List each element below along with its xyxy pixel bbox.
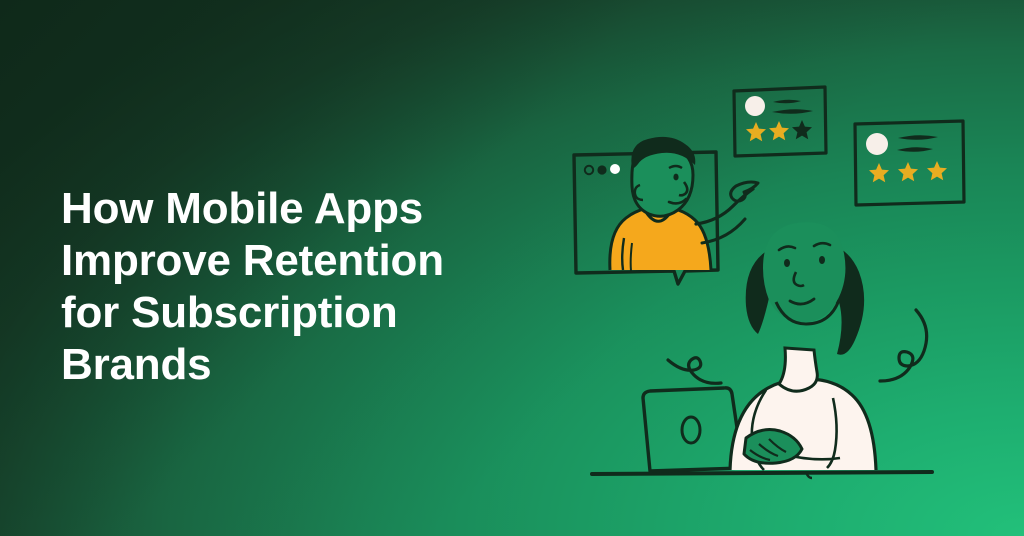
star-rating <box>869 161 947 182</box>
text-line <box>773 100 801 104</box>
swirl-right-icon <box>880 310 927 381</box>
card-frame <box>855 121 964 205</box>
page-title: How Mobile Apps Improve Retention for Su… <box>61 183 561 391</box>
window-dot-white-icon <box>610 164 620 174</box>
text-line <box>772 109 813 114</box>
banner-graphic: How Mobile Apps Improve Retention for Su… <box>0 0 1024 536</box>
star-filled <box>746 122 766 141</box>
laptop-icon <box>643 388 743 471</box>
text-line <box>897 147 933 152</box>
hero-illustration <box>550 58 1024 536</box>
star-filled <box>927 161 947 180</box>
window-dot-dark-icon <box>597 165 606 174</box>
star-filled <box>869 163 889 182</box>
laptop-logo-icon <box>682 417 700 443</box>
window-dot-outline-icon <box>585 166 593 174</box>
swirl-left-icon <box>668 358 721 384</box>
star-dark <box>792 120 812 139</box>
woman-eye <box>784 259 790 267</box>
desk-surface <box>592 472 932 474</box>
woman-neck <box>779 348 817 391</box>
woman-face <box>763 222 845 322</box>
review-card-top <box>734 87 826 156</box>
card-frame <box>734 87 826 156</box>
video-call-window <box>574 137 758 284</box>
avatar <box>745 96 765 116</box>
woman-eye <box>819 256 825 264</box>
star-filled <box>898 162 918 181</box>
star-rating <box>746 120 812 141</box>
avatar <box>866 133 888 155</box>
star-filled <box>769 121 789 140</box>
text-line <box>898 135 938 140</box>
man-eye <box>673 174 678 181</box>
review-card-right <box>855 121 964 205</box>
man-pointing-hand <box>731 182 758 201</box>
